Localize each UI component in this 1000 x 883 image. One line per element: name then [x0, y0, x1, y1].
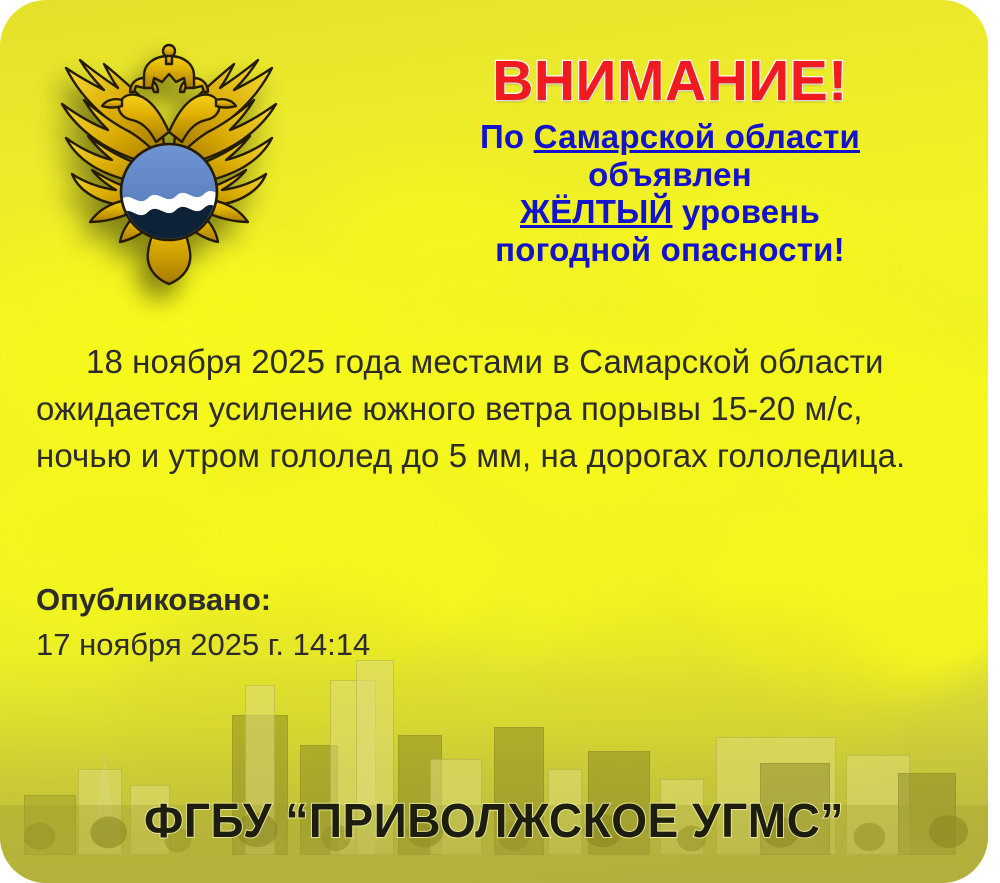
attention-title: ВНИМАНИЕ!: [380, 52, 960, 110]
warning-line-level: ЖЁЛТЫЙ уровень: [380, 193, 960, 231]
organization-footer: ФГБУ “ПРИВОЛЖСКОЕ УГМС”: [20, 794, 968, 849]
warning-level-suffix: уровень: [673, 193, 820, 230]
published-block: Опубликовано: 17 ноября 2025 г. 14:14: [36, 578, 370, 668]
forecast-body-text: 18 ноября 2025 года местами в Самарской …: [36, 338, 956, 480]
weather-warning-card: ВНИМАНИЕ! По Самарской области объявлен …: [0, 0, 988, 883]
warning-line-prefix: По: [480, 118, 534, 155]
roshydromet-emblem: [38, 40, 300, 290]
published-date: 17 ноября 2025 г. 14:14: [36, 623, 370, 668]
warning-line-region: По Самарской области: [380, 118, 960, 156]
warning-header: ВНИМАНИЕ! По Самарской области объявлен …: [380, 52, 960, 269]
warning-region-name: Самарской области: [534, 118, 860, 155]
warning-level-name: ЖЁЛТЫЙ: [520, 193, 672, 230]
warning-line-declared: объявлен: [380, 156, 960, 194]
warning-line-danger: погодной опасности!: [380, 231, 960, 269]
published-label: Опубликовано:: [36, 578, 370, 623]
